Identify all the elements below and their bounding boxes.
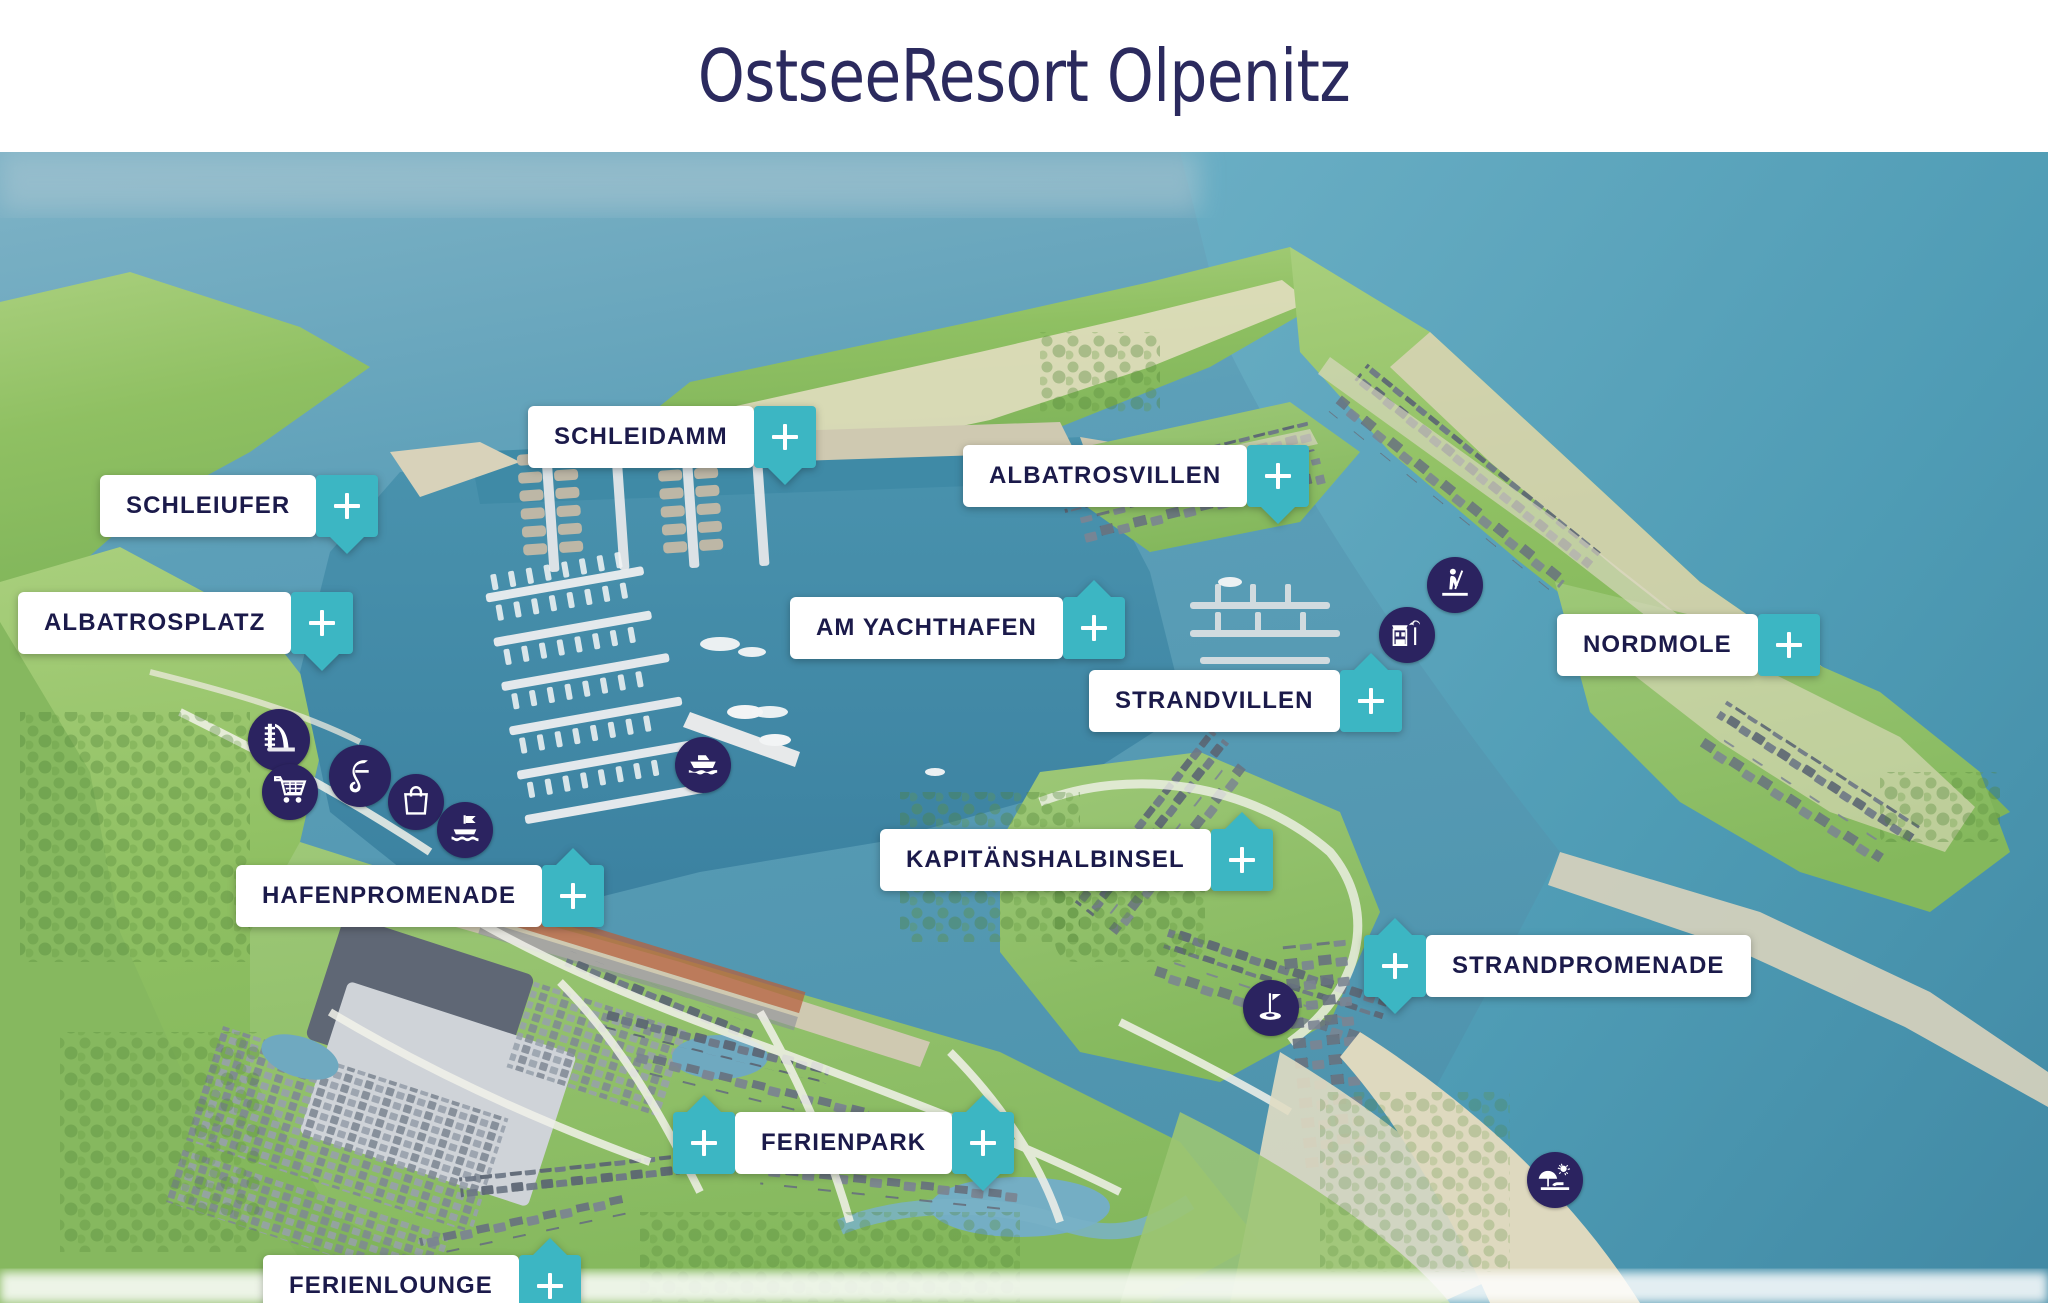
- hotspot-ferienpark[interactable]: FERIENPARK: [673, 1112, 1014, 1174]
- pointer-tail-down: [305, 654, 339, 671]
- pointer-tail-up: [533, 1238, 567, 1255]
- expand-plus-button-left[interactable]: [673, 1112, 735, 1174]
- hotspot-label: FERIENPARK: [735, 1112, 952, 1174]
- pointer-tail-up: [1225, 812, 1259, 829]
- hotspot-label: NORDMOLE: [1557, 614, 1758, 676]
- poi-ferry[interactable]: [437, 802, 493, 858]
- hotspot-schleiufer[interactable]: SCHLEIUFER: [100, 475, 378, 537]
- poi-water-slide[interactable]: [248, 709, 310, 771]
- shopping-bag-icon: [399, 783, 433, 822]
- expand-plus-button[interactable]: [754, 406, 816, 468]
- hotspot-label: KAPITÄNSHALBINSEL: [880, 829, 1211, 891]
- pointer-tail-up: [966, 1095, 1000, 1112]
- expand-plus-button[interactable]: [1758, 614, 1820, 676]
- hotspot-strandvillen[interactable]: STRANDVILLEN: [1089, 670, 1402, 732]
- hotspot-label: SCHLEIDAMM: [528, 406, 754, 468]
- water-slide-icon: [260, 719, 298, 762]
- beach-umbrella-icon: [1538, 1161, 1572, 1200]
- pointer-tail-up: [1378, 918, 1412, 935]
- hotspot-label: HAFENPROMENADE: [236, 865, 542, 927]
- page-title: OstseeResort Olpenitz: [82, 0, 1966, 152]
- market-palm-icon: [1390, 616, 1424, 655]
- pointer-tail-down: [330, 537, 364, 554]
- hotspot-schleidamm[interactable]: SCHLEIDAMM: [528, 406, 816, 468]
- expand-plus-button[interactable]: [542, 865, 604, 927]
- poi-paddleboard[interactable]: [1427, 557, 1483, 613]
- pointer-tail-up: [556, 848, 590, 865]
- hotspot-label: SCHLEIUFER: [100, 475, 316, 537]
- expand-plus-button[interactable]: [1364, 935, 1426, 997]
- paddleboard-icon: [1438, 566, 1472, 605]
- hotspot-strandpromenade[interactable]: STRANDPROMENADE: [1364, 935, 1751, 997]
- hotspot-kapitaenshalbinsel[interactable]: KAPITÄNSHALBINSEL: [880, 829, 1273, 891]
- poi-f-brand[interactable]: [329, 745, 391, 807]
- hotspot-label: STRANDPROMENADE: [1426, 935, 1751, 997]
- expand-plus-button[interactable]: [519, 1255, 581, 1303]
- pointer-tail-down: [768, 468, 802, 485]
- poi-golf[interactable]: [1243, 980, 1299, 1036]
- golf-flag-icon: [1254, 989, 1288, 1028]
- hotspot-label: AM YACHTHAFEN: [790, 597, 1063, 659]
- pointer-tail-up: [687, 1095, 721, 1112]
- hotspot-am-yachthafen[interactable]: AM YACHTHAFEN: [790, 597, 1125, 659]
- hotspot-albatrosplatz[interactable]: ALBATROSPLATZ: [18, 592, 353, 654]
- poi-beach[interactable]: [1527, 1152, 1583, 1208]
- f-monogram-icon: [341, 755, 379, 798]
- hotspot-ferienlounge[interactable]: FERIENLOUNGE: [263, 1255, 581, 1303]
- hotspot-label: ALBATROSVILLEN: [963, 445, 1247, 507]
- poi-shopping[interactable]: [388, 774, 444, 830]
- hotspot-label: STRANDVILLEN: [1089, 670, 1340, 732]
- ferry-boat-icon: [448, 811, 482, 850]
- pointer-tail-down: [1261, 507, 1295, 524]
- poi-supermarket[interactable]: [262, 764, 318, 820]
- expand-plus-button[interactable]: [291, 592, 353, 654]
- pointer-tail-up: [1077, 580, 1111, 597]
- hotspot-label: ALBATROSPLATZ: [18, 592, 291, 654]
- pointer-tail-down: [966, 1174, 1000, 1191]
- expand-plus-button[interactable]: [316, 475, 378, 537]
- hotspot-nordmole[interactable]: NORDMOLE: [1557, 614, 1820, 676]
- expand-plus-button[interactable]: [1340, 670, 1402, 732]
- hotspot-hafenpromenade[interactable]: HAFENPROMENADE: [236, 865, 604, 927]
- motor-yacht-icon: [686, 746, 720, 785]
- poi-motorboat[interactable]: [675, 737, 731, 793]
- hotspot-label: FERIENLOUNGE: [263, 1255, 519, 1303]
- expand-plus-button[interactable]: [1211, 829, 1273, 891]
- expand-plus-button-right[interactable]: [952, 1112, 1014, 1174]
- pointer-tail-down: [1378, 997, 1412, 1014]
- pointer-tail-up: [1354, 653, 1388, 670]
- expand-plus-button[interactable]: [1247, 445, 1309, 507]
- expand-plus-button[interactable]: [1063, 597, 1125, 659]
- hotspot-albatrosvillen[interactable]: ALBATROSVILLEN: [963, 445, 1309, 507]
- resort-map[interactable]: SCHLEIDAMM ALBATROSVILLEN SCHLEIUFER ALB…: [0, 152, 2048, 1303]
- shopping-cart-icon: [273, 773, 307, 812]
